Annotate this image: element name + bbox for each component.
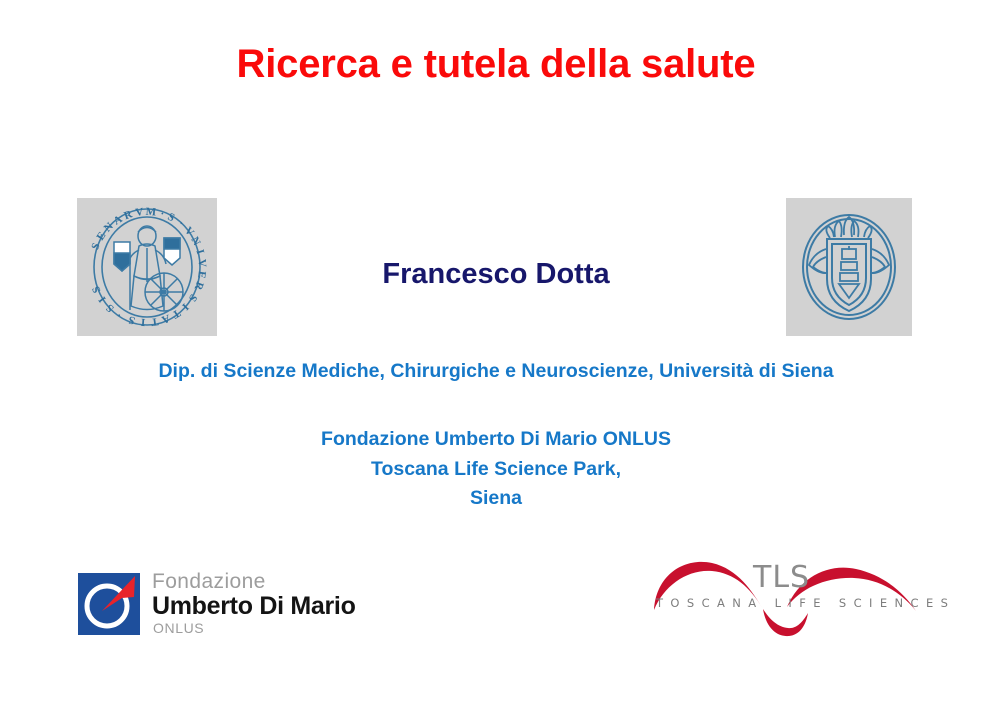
svg-text:S: S <box>186 292 199 304</box>
tls-logo: TLS TOSCANA LIFE SCIENCES <box>650 553 922 645</box>
fondazione-line-3: ONLUS <box>153 620 204 636</box>
svg-text:S: S <box>89 241 102 251</box>
fondazione-mark-icon <box>78 573 140 635</box>
svg-text:N: N <box>188 235 202 248</box>
fondazione-umberto-di-mario-logo: Fondazione Umberto Di Mario ONLUS <box>78 568 418 640</box>
foundation-line-2: Toscana Life Science Park, <box>0 455 992 485</box>
page-title: Ricerca e tutela della salute <box>0 42 992 86</box>
fondazione-wordmark: Fondazione Umberto Di Mario ONLUS <box>152 568 418 640</box>
fondazione-line-1: Fondazione <box>152 570 266 594</box>
foundation-line-3: Siena <box>0 484 992 514</box>
svg-text:V: V <box>135 206 145 219</box>
slide-canvas: Ricerca e tutela della salute S E N A R … <box>0 0 992 701</box>
tls-acronym: TLS <box>753 560 810 595</box>
svg-text:E: E <box>195 270 208 279</box>
crest-seal-icon <box>794 205 904 329</box>
svg-text:T: T <box>150 315 160 328</box>
svg-text:S: S <box>127 313 136 326</box>
siena-seal-icon: S E N A R V M · S · V N I V E R S I T A <box>86 204 208 330</box>
tls-tagline: TOSCANA LIFE SCIENCES <box>656 596 955 610</box>
svg-text:I: I <box>194 248 207 255</box>
foundation-line-1: Fondazione Umberto Di Mario ONLUS <box>0 425 992 455</box>
affiliation-line: Dip. di Scienze Mediche, Chirurgiche e N… <box>0 360 992 383</box>
university-of-siena-seal: S E N A R V M · S · V N I V E R S I T A <box>77 198 217 336</box>
fondazione-line-2: Umberto Di Mario <box>152 592 356 621</box>
svg-text:M: M <box>145 206 157 219</box>
author-name: Francesco Dotta <box>246 258 746 291</box>
crest-seal <box>786 198 912 336</box>
svg-text:V: V <box>196 259 208 268</box>
foundation-block: Fondazione Umberto Di Mario ONLUS Toscan… <box>0 425 992 514</box>
svg-text:·: · <box>159 208 166 221</box>
svg-text:I: I <box>96 294 108 305</box>
svg-text:R: R <box>191 280 205 293</box>
svg-text:I: I <box>141 316 146 328</box>
